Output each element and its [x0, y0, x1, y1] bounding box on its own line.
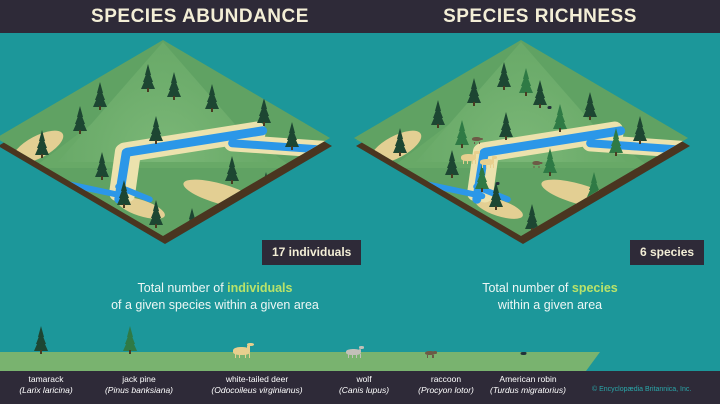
animal-white-tailed-deer [480, 156, 500, 168]
caption-richness: Total number of species within a given a… [400, 280, 700, 314]
caption-line-2: within a given area [400, 297, 700, 314]
legend-common-name: white-tailed deer [183, 374, 331, 385]
legend-scientific-name: (Larix laricina) [0, 385, 92, 396]
legend-item-jack-pine: jack pine (Pinus banksiana) [85, 374, 193, 396]
infographic-stage: SPECIES ABUNDANCE SPECIES RICHNESS [0, 0, 720, 404]
legend-common-name: tamarack [0, 374, 92, 385]
legend-scientific-name: (Canis lupus) [324, 385, 404, 396]
animal-raccoon [533, 161, 544, 168]
count-badge-species: 6 species [630, 240, 704, 265]
caption-highlight: species [572, 281, 618, 295]
caption-line-1: Total number of individuals [30, 280, 400, 297]
animal-raccoon [472, 137, 484, 144]
caption-prefix: Total number of [482, 281, 572, 295]
legend-scientific-name: (Turdus migratorius) [467, 385, 589, 396]
count-badge-individuals: 17 individuals [262, 240, 361, 265]
caption-prefix: Total number of [138, 281, 228, 295]
animal-wolf [631, 212, 649, 222]
diorama-species-abundance [0, 36, 340, 256]
legend-item-tamarack: tamarack (Larix laricina) [0, 374, 92, 396]
deer-icon [233, 342, 259, 358]
panel-title-richness: SPECIES RICHNESS [380, 6, 700, 28]
plot-surface [354, 40, 688, 236]
legend-common-name: jack pine [85, 374, 193, 385]
panel-title-abundance: SPECIES ABUNDANCE [40, 6, 360, 28]
caption-abundance: Total number of individuals of a given s… [30, 280, 400, 314]
legend-item-american-robin: American robin (Turdus migratorius) [467, 374, 589, 396]
diorama-species-richness [348, 36, 698, 256]
legend-item-wolf: wolf (Canis lupus) [324, 374, 404, 396]
legend-ground-strip [0, 352, 586, 371]
legend-common-name: wolf [324, 374, 404, 385]
legend-scientific-name: (Odocoileus virginianus) [183, 385, 331, 396]
robin-icon [521, 353, 528, 358]
caption-highlight: individuals [227, 281, 292, 295]
land-plot-diamond [348, 36, 698, 251]
raccoon-icon [425, 349, 439, 358]
caption-line-1: Total number of species [400, 280, 700, 297]
animal-american-robin [548, 108, 553, 112]
wolf-icon [346, 345, 368, 358]
animal-american-robin [496, 184, 501, 188]
title-band: SPECIES ABUNDANCE SPECIES RICHNESS [0, 0, 720, 33]
caption-line-2: of a given species within a given area [30, 297, 400, 314]
legend-common-name: American robin [467, 374, 589, 385]
plot-surface [0, 40, 330, 236]
legend-item-white-tailed-deer: white-tailed deer (Odocoileus virginianu… [183, 374, 331, 396]
copyright-notice: © Encyclopædia Britannica, Inc. [592, 386, 691, 393]
land-plot-diamond [0, 36, 340, 251]
legend-scientific-name: (Pinus banksiana) [85, 385, 193, 396]
